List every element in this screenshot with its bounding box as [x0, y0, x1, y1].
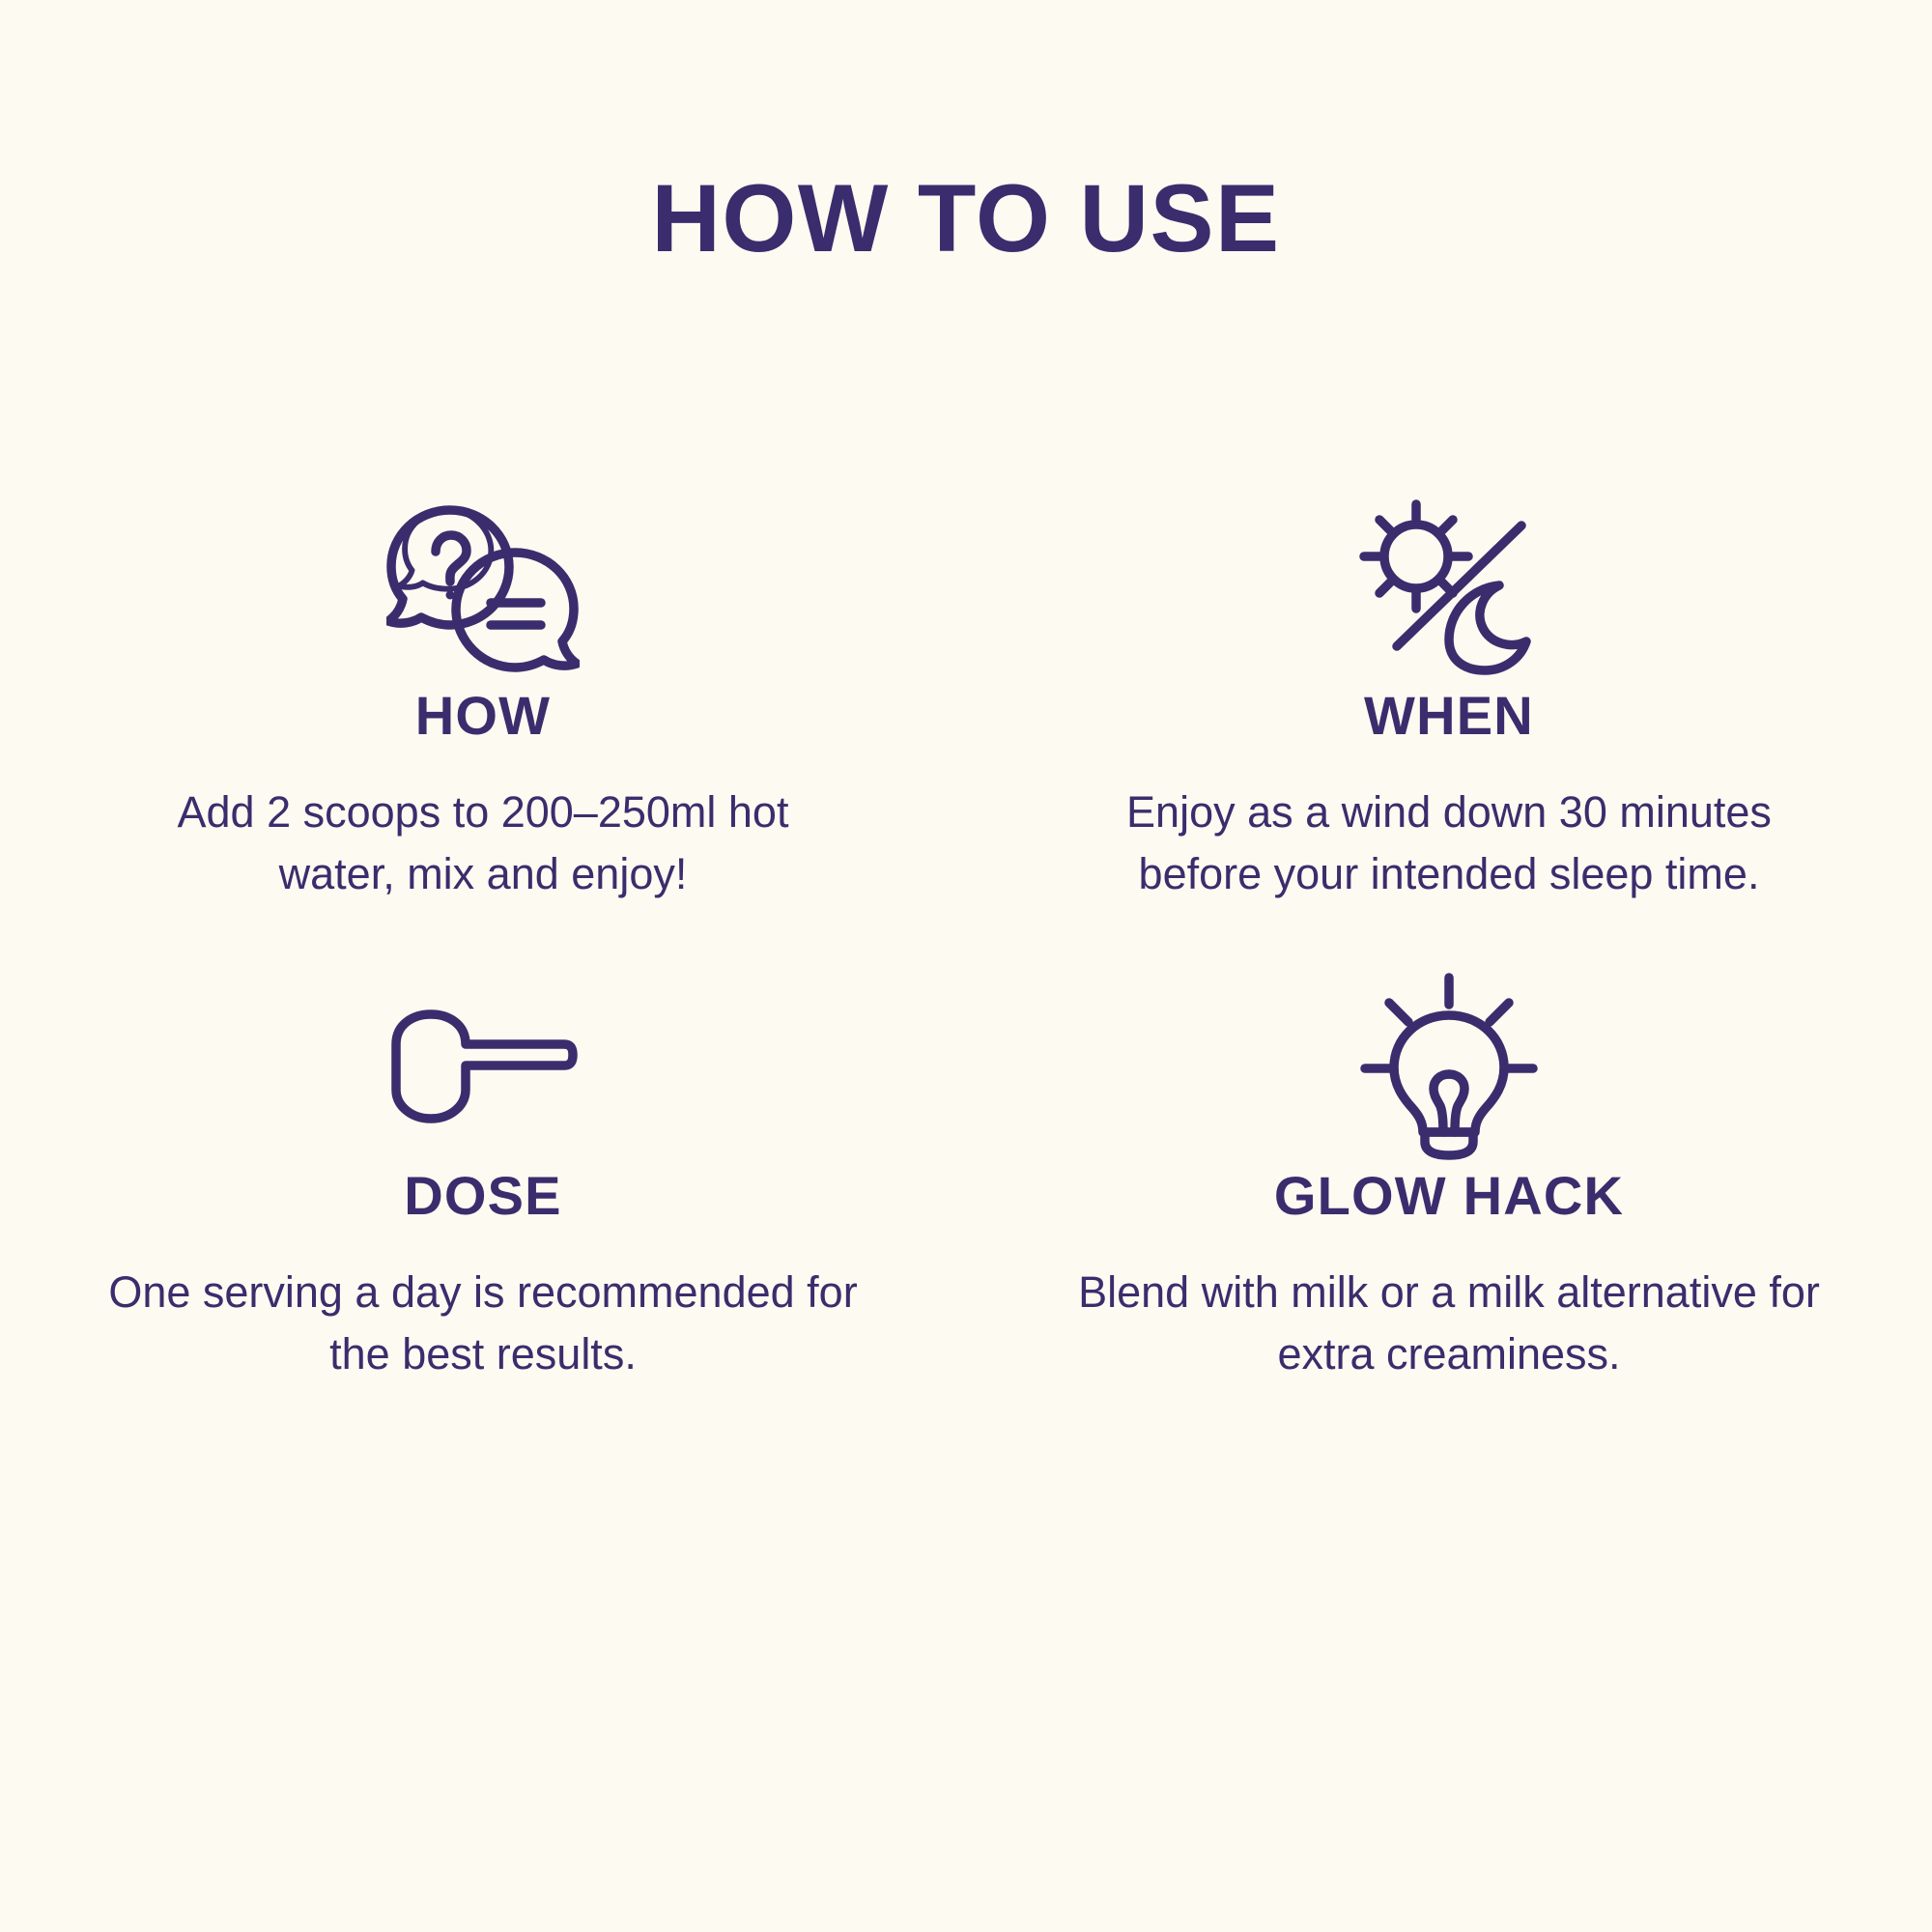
card-title-when: WHEN [1364, 689, 1534, 743]
page-title: HOW TO USE [0, 170, 1932, 266]
sun-moon-slash-icon [1354, 483, 1544, 689]
card-body-how: Add 2 scoops to 200–250ml hot water, mix… [116, 781, 850, 905]
card-body-when: Enjoy as a wind down 30 minutes before y… [1082, 781, 1816, 905]
how-to-use-page: HOW TO USE HOW [0, 0, 1932, 1932]
card-title-how: HOW [415, 689, 551, 743]
card-dose: DOSE One serving a day is recommended fo… [0, 963, 966, 1385]
card-when: WHEN Enjoy as a wind down 30 minutes bef… [966, 483, 1932, 905]
card-glow-hack: GLOW HACK Blend with milk or a milk alte… [966, 963, 1932, 1385]
how-to-use-grid: HOW Add 2 scoops to 200–250ml hot water,… [0, 483, 1932, 1385]
card-body-glow-hack: Blend with milk or a milk alternative fo… [1053, 1262, 1845, 1385]
measuring-scoop-icon [388, 963, 578, 1169]
card-title-glow-hack: GLOW HACK [1274, 1169, 1624, 1223]
card-body-dose: One serving a day is recommended for the… [87, 1262, 879, 1385]
lightbulb-icon [1359, 963, 1539, 1169]
card-how: HOW Add 2 scoops to 200–250ml hot water,… [0, 483, 966, 905]
card-title-dose: DOSE [404, 1169, 562, 1223]
speech-bubbles-question-icon [386, 483, 580, 689]
